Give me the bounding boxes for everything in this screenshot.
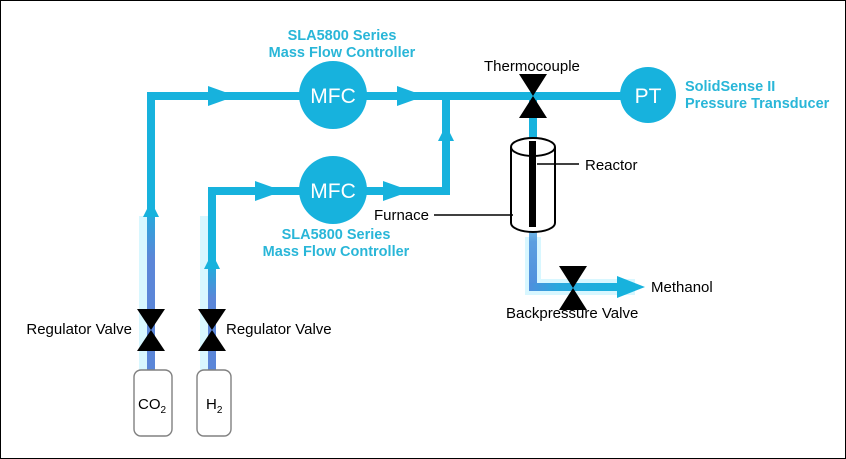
reactor-furnace[interactable] xyxy=(511,138,555,232)
mfc-bottom-caption-line2: Mass Flow Controller xyxy=(263,244,410,260)
mfc-bottom[interactable]: MFC xyxy=(299,156,367,224)
lower-arrow-after-mfc2 xyxy=(383,181,411,201)
pipe-top-header xyxy=(147,86,627,106)
top-arrow-before-mfc1 xyxy=(208,86,236,106)
cylinder-co2[interactable]: CO2 xyxy=(134,370,172,436)
pt-caption-line2: Pressure Transducer xyxy=(685,96,830,112)
cylinder-h2[interactable]: H2 xyxy=(197,370,231,436)
co2-riser-arrowhead xyxy=(143,201,159,217)
reactor-tube xyxy=(529,141,536,227)
reactor-label: Reactor xyxy=(585,157,638,174)
mfc-bottom-label: MFC xyxy=(310,180,356,203)
pt-caption-line1: SolidSense II xyxy=(685,79,775,95)
methanol-horizontal xyxy=(529,283,625,291)
mfc-bottom-caption-line1: SLA5800 Series xyxy=(282,227,391,243)
mfc-top-caption-line1: SLA5800 Series xyxy=(288,28,397,44)
lower-arrow-before-mfc2 xyxy=(255,181,283,201)
lower-branch-riser xyxy=(442,96,450,195)
methanol-label: Methanol xyxy=(651,279,713,296)
process-flow-diagram: MFC MFC PT xyxy=(0,0,846,459)
mfc-top[interactable]: MFC xyxy=(299,61,367,129)
top-arrow-after-mfc1 xyxy=(397,86,425,106)
mfc-top-label: MFC xyxy=(310,85,356,108)
thermocouple-label: Thermocouple xyxy=(484,58,580,75)
regulator-valve-left-label: Regulator Valve xyxy=(26,321,132,338)
mfc-top-caption-line2: Mass Flow Controller xyxy=(269,45,416,61)
leader-lines xyxy=(434,164,579,215)
diagram-canvas: MFC MFC PT xyxy=(1,1,846,459)
backpressure-valve-label: Backpressure Valve xyxy=(506,305,638,322)
pt-label: PT xyxy=(635,85,662,108)
lower-branch-arrowhead xyxy=(438,125,454,141)
regulator-valve-right-label: Regulator Valve xyxy=(226,321,332,338)
pressure-transducer[interactable]: PT xyxy=(620,67,676,123)
furnace-label: Furnace xyxy=(374,207,429,224)
